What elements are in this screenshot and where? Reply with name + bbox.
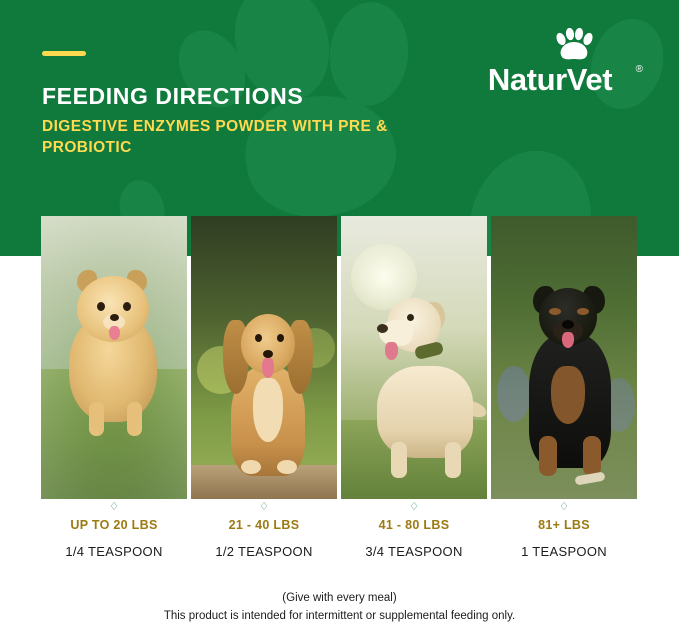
- dosage-column: ♢ 41 - 80 LBS 3/4 TEASPOON: [341, 500, 487, 559]
- page-subtitle: DIGESTIVE ENZYMES POWDER WITH PRE & PROB…: [42, 116, 442, 158]
- weight-range-label: UP TO 20 LBS: [41, 518, 187, 532]
- dosage-column: ♢ 81+ LBS 1 TEASPOON: [491, 500, 637, 559]
- weight-range-label: 41 - 80 LBS: [341, 518, 487, 532]
- pomeranian-dog-photo: [41, 216, 187, 499]
- page-title: FEEDING DIRECTIONS: [42, 83, 303, 110]
- dose-amount-label: 1/2 TEASPOON: [191, 544, 337, 559]
- brand-logo: NaturVet ®: [455, 28, 645, 114]
- dose-amount-label: 1 TEASPOON: [491, 544, 637, 559]
- paw-icon: [553, 28, 595, 62]
- dose-amount-label: 3/4 TEASPOON: [341, 544, 487, 559]
- cocker-spaniel-dog-photo: [191, 216, 337, 499]
- paw-print-marker-icon: ♢: [341, 500, 487, 514]
- weight-range-label: 21 - 40 LBS: [191, 518, 337, 532]
- dosage-column: ♢ UP TO 20 LBS 1/4 TEASPOON: [41, 500, 187, 559]
- footnote-give-with-meal: (Give with every meal): [0, 592, 679, 604]
- dosage-table: ♢ UP TO 20 LBS 1/4 TEASPOON ♢ 21 - 40 LB…: [41, 500, 638, 559]
- accent-bar: [42, 51, 86, 56]
- paw-print-marker-icon: ♢: [191, 500, 337, 514]
- paw-print-marker-icon: ♢: [491, 500, 637, 514]
- rottweiler-dog-photo: [491, 216, 637, 499]
- yellow-labrador-dog-photo: [341, 216, 487, 499]
- footnote-supplemental-feeding: This product is intended for intermitten…: [0, 610, 679, 622]
- registered-mark: ®: [636, 64, 643, 75]
- dose-amount-label: 1/4 TEASPOON: [41, 544, 187, 559]
- weight-range-label: 81+ LBS: [491, 518, 637, 532]
- paw-print-marker-icon: ♢: [41, 500, 187, 514]
- paw-watermark: [325, 0, 413, 110]
- brand-name: NaturVet: [455, 62, 645, 98]
- footnotes: (Give with every meal) This product is i…: [0, 592, 679, 622]
- dosage-column: ♢ 21 - 40 LBS 1/2 TEASPOON: [191, 500, 337, 559]
- feeding-directions-infographic: FEEDING DIRECTIONS DIGESTIVE ENZYMES POW…: [0, 0, 679, 629]
- dog-photo-row: [41, 216, 638, 499]
